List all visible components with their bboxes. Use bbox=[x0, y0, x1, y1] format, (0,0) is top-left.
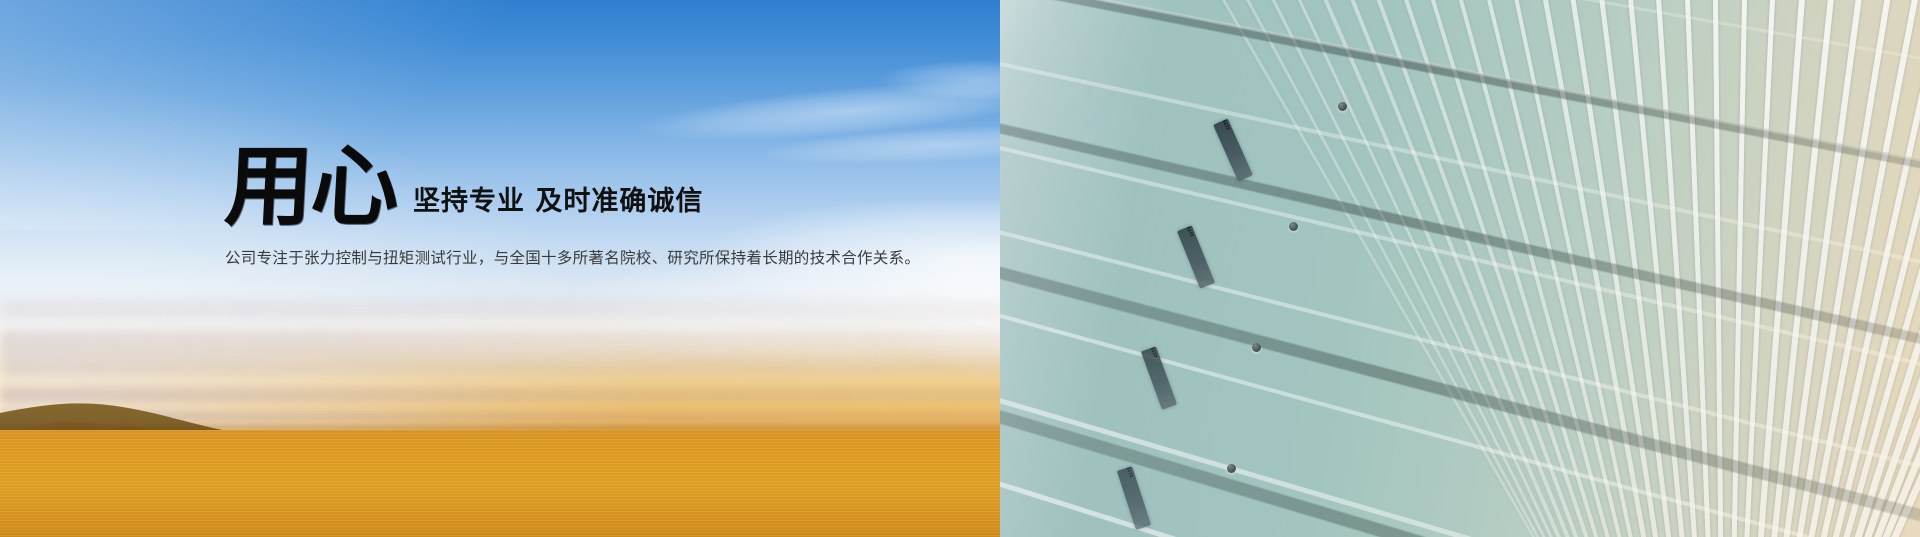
headline-row: 用心 坚持专业 及时准确诚信 bbox=[225, 145, 985, 230]
curved-glass-building bbox=[1000, 0, 1920, 537]
banner-description: 公司专注于张力控制与扭矩测试行业，与全国十多所著名院校、研究所保持着长期的技术合… bbox=[225, 246, 985, 268]
tagline: 坚持专业 及时准确诚信 bbox=[413, 179, 703, 230]
hero-banner: 用心 坚持专业 及时准确诚信 公司专注于张力控制与扭矩测试行业，与全国十多所著名… bbox=[0, 0, 1920, 537]
headline-calligraphy: 用心 bbox=[223, 145, 399, 230]
banner-copy: 用心 坚持专业 及时准确诚信 公司专注于张力控制与扭矩测试行业，与全国十多所著名… bbox=[225, 145, 985, 268]
